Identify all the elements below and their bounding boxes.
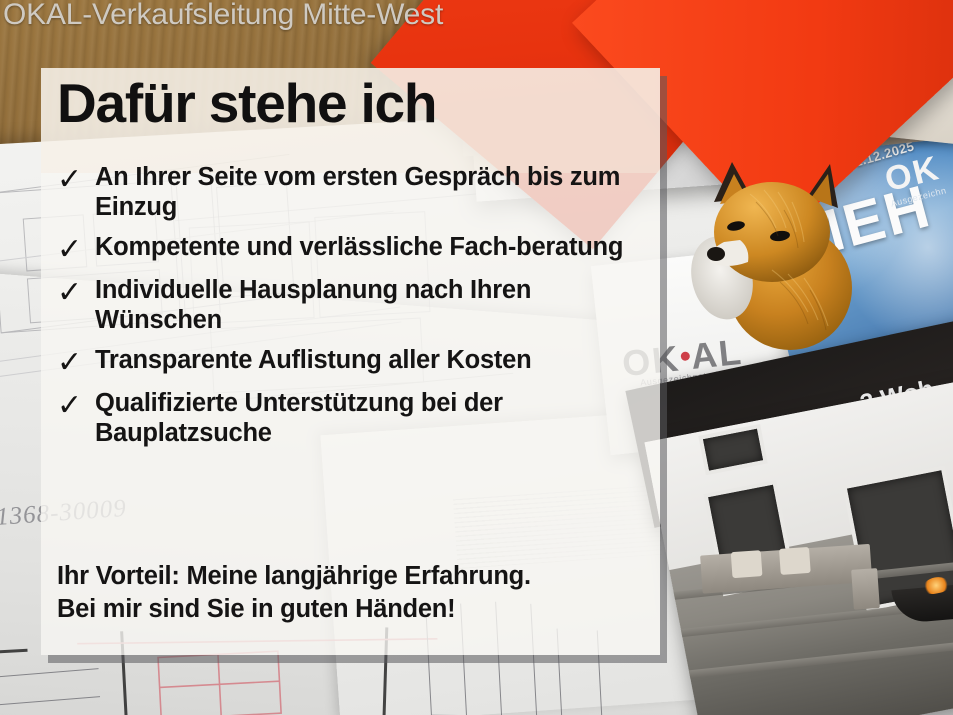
- benefits-list: ✓ An Ihrer Seite vom ersten Gespräch bis…: [57, 163, 657, 459]
- check-icon: ✓: [57, 278, 95, 308]
- page-title: OKAL-Verkaufsleitung Mitte-West: [3, 0, 443, 32]
- slide-canvas: 1368-30009 OKAL Ausgezeichnete Häuser 15…: [0, 0, 953, 715]
- check-icon: ✓: [57, 235, 95, 265]
- check-icon: ✓: [57, 165, 95, 195]
- card-content: Dafür stehe ich ✓ An Ihrer Seite vom ers…: [41, 68, 660, 655]
- list-item: ✓ An Ihrer Seite vom ersten Gespräch bis…: [57, 163, 657, 222]
- terrace-cushion-1: [731, 550, 763, 578]
- list-item: ✓ Transparente Auflistung aller Kosten: [57, 346, 657, 378]
- list-item-label: Individuelle Hausplanung nach Ihren Wüns…: [95, 276, 657, 335]
- plush-fox-figurine: [680, 150, 880, 365]
- list-item-label: Transparente Auflistung aller Kosten: [95, 346, 657, 376]
- closing-line-2: Bei mir sind Sie in guten Händen!: [57, 593, 647, 626]
- list-item: ✓ Qualifizierte Unterstützung bei der Ba…: [57, 389, 657, 448]
- terrace-chair: [851, 568, 880, 610]
- headline: Dafür stehe ich: [57, 76, 436, 131]
- list-item-label: Qualifizierte Unterstützung bei der Baup…: [95, 389, 657, 448]
- closing-statement: Ihr Vorteil: Meine langjährige Erfahrung…: [57, 560, 647, 625]
- check-icon: ✓: [57, 391, 95, 421]
- list-item: ✓ Individuelle Hausplanung nach Ihren Wü…: [57, 276, 657, 335]
- check-icon: ✓: [57, 348, 95, 378]
- terrace-deck-line-3: [670, 631, 953, 681]
- terrace-cushion-2: [779, 547, 811, 575]
- list-item-label: Kompetente und verlässliche Fach-beratun…: [95, 233, 657, 263]
- list-item-label: An Ihrer Seite vom ersten Gespräch bis z…: [95, 163, 657, 222]
- list-item: ✓ Kompetente und verlässliche Fach-berat…: [57, 233, 657, 265]
- closing-line-1: Ihr Vorteil: Meine langjährige Erfahrung…: [57, 560, 647, 593]
